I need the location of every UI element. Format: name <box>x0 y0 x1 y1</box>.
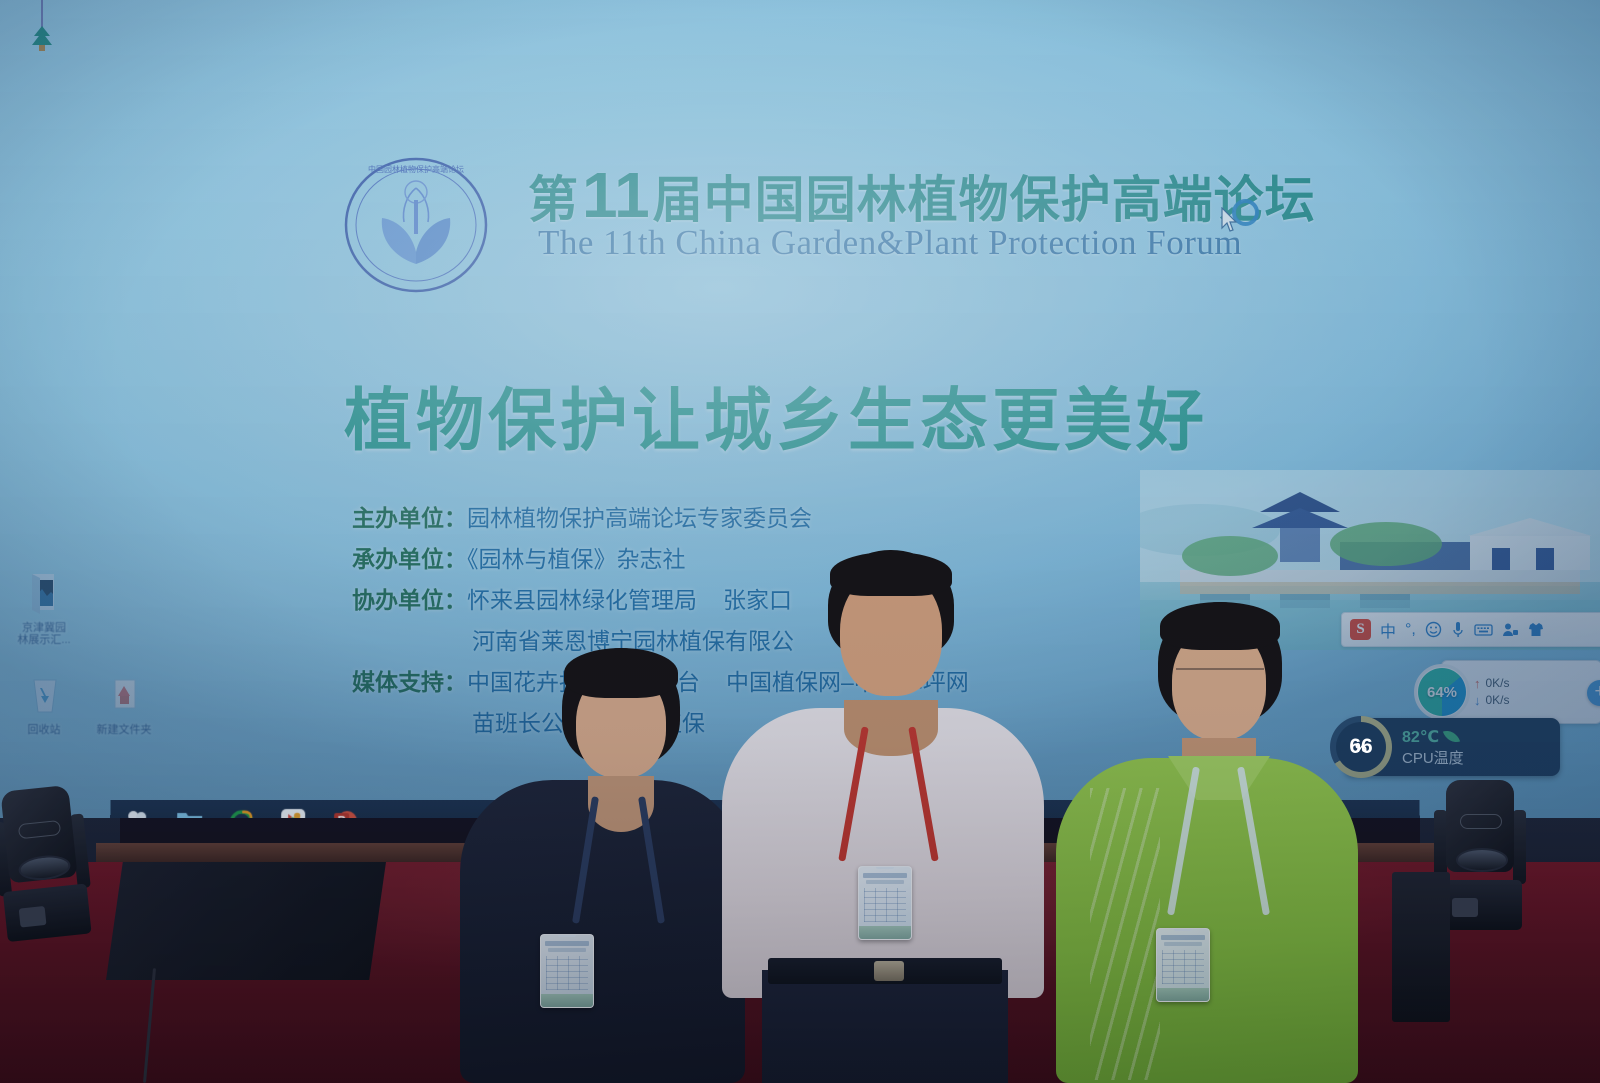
attendee-center-fringe <box>830 552 952 596</box>
memory-usage-ring: 64% <box>1414 664 1470 720</box>
soft-keyboard-icon[interactable] <box>1474 623 1493 637</box>
mouse-cursor-icon <box>1221 207 1239 233</box>
attendee-right <box>1046 588 1366 1083</box>
attendee-center-trousers <box>762 970 1008 1083</box>
attendee-right-badge <box>1156 928 1210 1002</box>
attendee-center-badge <box>858 866 912 940</box>
download-arrow-icon: ↓ <box>1474 692 1481 709</box>
slide-title-english: The 11th China Garden&Plant Protection F… <box>538 223 1242 263</box>
emoji-icon[interactable] <box>1425 621 1442 638</box>
svg-text:中国园林植物保护高端论坛: 中国园林植物保护高端论坛 <box>368 164 464 174</box>
title-number: 11 <box>579 159 653 231</box>
download-speed: 0K/s <box>1486 692 1510 709</box>
sogou-ime-toolbar[interactable]: S 中 °, <box>1341 612 1600 647</box>
leaf-icon <box>1443 727 1460 746</box>
cpu-usage-ring: 66% <box>1330 716 1392 778</box>
attendee-right-fringe <box>1160 602 1280 650</box>
slide-title: 第11届中国园林植物保护高端论坛 <box>528 158 1316 232</box>
forum-emblem: 中国园林植物保护高端论坛 <box>336 152 496 298</box>
attendee-right-glasses <box>1176 668 1264 690</box>
right-equipment-case <box>1392 872 1450 1022</box>
voice-input-icon[interactable] <box>1451 621 1465 638</box>
attendee-center <box>712 540 1052 1083</box>
conference-photo: 京津冀园林展示汇... 回收站 新建文件夹 <box>0 0 1600 1083</box>
cpu-usage-value: 66% <box>1330 716 1392 778</box>
skin-icon[interactable] <box>1528 622 1544 637</box>
attendee-right-shirt-stripe <box>1090 788 1160 1080</box>
title-prefix: 第 <box>528 172 579 228</box>
moving-head-light-left <box>0 784 96 943</box>
speed-readout: ↑0K/s ↓0K/s <box>1470 675 1600 709</box>
cpu-temperature-label: CPU温度 <box>1402 747 1560 768</box>
attendee-left-badge <box>540 934 594 1008</box>
cpu-temperature-value: 82℃ <box>1402 727 1439 747</box>
stage-monitor-speaker <box>106 862 386 980</box>
slide-slogan: 植物保护让城乡生态更美好 <box>344 365 1208 464</box>
title-suffix: 届中国园林植物保护高端论坛 <box>653 172 1316 228</box>
network-speed-widget[interactable]: 64% ↑0K/s ↓0K/s + <box>1441 660 1600 724</box>
ime-punctuation-mode[interactable]: °, <box>1405 621 1416 639</box>
credit-row: 主办单位：园林植物保护高端论坛专家委员会 <box>352 498 1132 539</box>
attendee-left-fringe <box>564 648 678 698</box>
cpu-temperature-widget[interactable]: 66% 82℃ CPU温度 <box>1344 718 1560 776</box>
attendee-left <box>452 628 752 1083</box>
attendee-center-buckle <box>874 961 904 981</box>
ime-language-mode[interactable]: 中 <box>1380 618 1396 642</box>
memory-usage-value: 64% <box>1414 664 1470 720</box>
upload-arrow-icon: ↑ <box>1474 675 1481 692</box>
upload-speed: 0K/s <box>1486 675 1510 692</box>
user-icon[interactable] <box>1502 622 1519 637</box>
